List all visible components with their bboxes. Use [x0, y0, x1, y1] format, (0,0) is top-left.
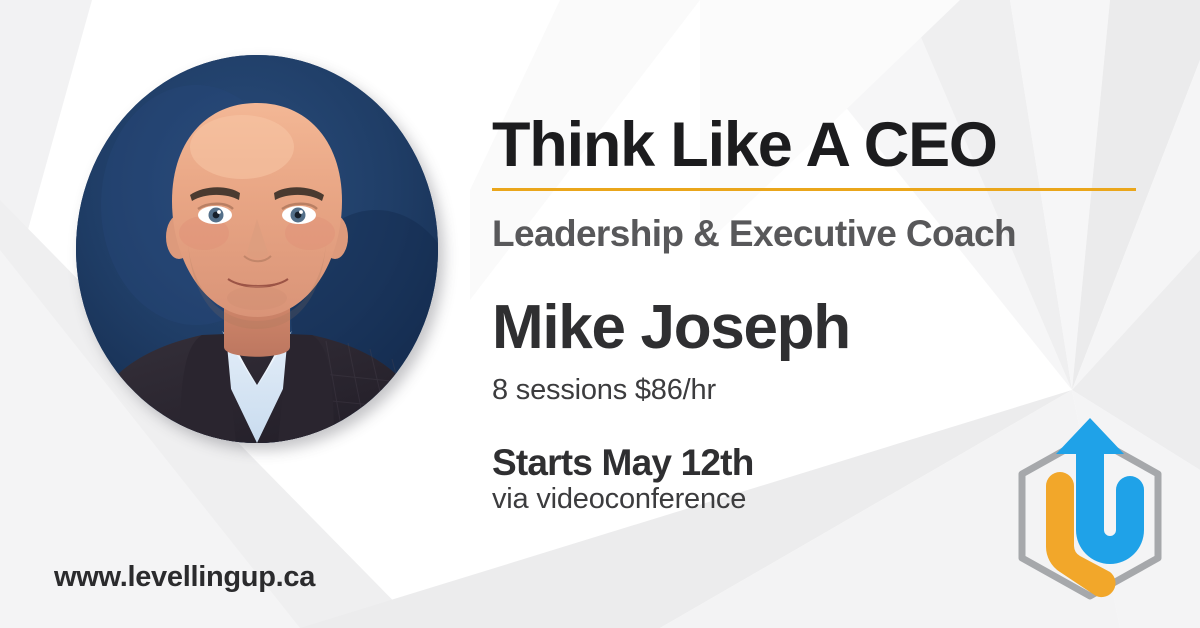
gold-divider: [492, 188, 1136, 191]
portrait-photo: [76, 55, 438, 443]
subtitle: Leadership & Executive Coach: [492, 212, 1016, 256]
website-url[interactable]: www.levellingup.ca: [54, 560, 315, 594]
page-title: Think Like A CEO: [492, 112, 997, 178]
avatar: [66, 55, 452, 443]
start-date: Starts May 12th: [492, 441, 754, 484]
delivery-mode: via videoconference: [492, 481, 746, 517]
promo-poster: Think Like A CEO Leadership & Executive …: [0, 0, 1200, 628]
levelling-up-logo[interactable]: [1000, 418, 1180, 614]
sessions-price: 8 sessions $86/hr: [492, 373, 716, 407]
coach-name: Mike Joseph: [492, 294, 850, 362]
